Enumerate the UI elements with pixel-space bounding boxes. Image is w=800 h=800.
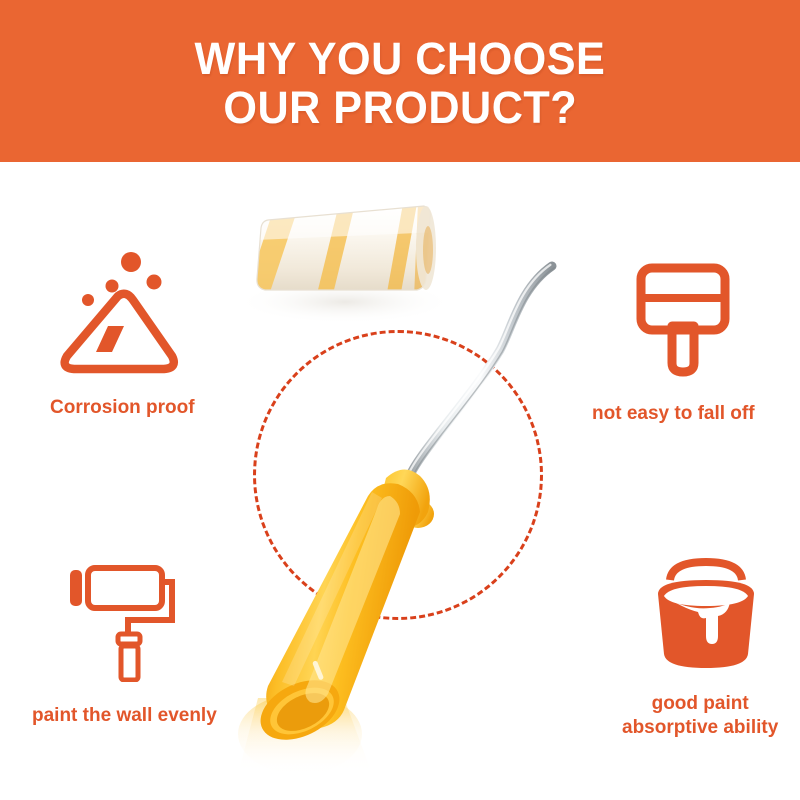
paint-bucket-icon <box>650 558 762 674</box>
headline-line-1: WHY YOU CHOOSE <box>195 35 606 84</box>
paint-brush-icon <box>630 262 740 380</box>
roller-sleeve <box>235 198 455 324</box>
feature-absorb-label: good paint absorptive ability <box>622 692 778 740</box>
header-banner: WHY YOU CHOOSE OUR PRODUCT? <box>0 0 800 162</box>
corrosion-triangle-icon <box>46 248 186 378</box>
feature-corrosion-proof: Corrosion proof <box>46 248 195 420</box>
headline-line-2: OUR PRODUCT? <box>223 84 577 133</box>
infographic-page: WHY YOU CHOOSE OUR PRODUCT? <box>0 0 800 800</box>
feature-falloff-label: not easy to fall off <box>592 402 755 426</box>
feature-corrosion-label: Corrosion proof <box>50 396 195 420</box>
plastic-handle <box>251 483 420 752</box>
feature-evenly-label: paint the wall evenly <box>32 704 217 728</box>
feature-paint-the-wall-evenly: paint the wall evenly <box>66 562 217 728</box>
feature-not-easy-to-fall-off: not easy to fall off <box>630 262 755 426</box>
feature-good-paint-absorptive-ability: good paint absorptive ability <box>634 558 778 740</box>
paint-roller-icon <box>66 562 196 682</box>
